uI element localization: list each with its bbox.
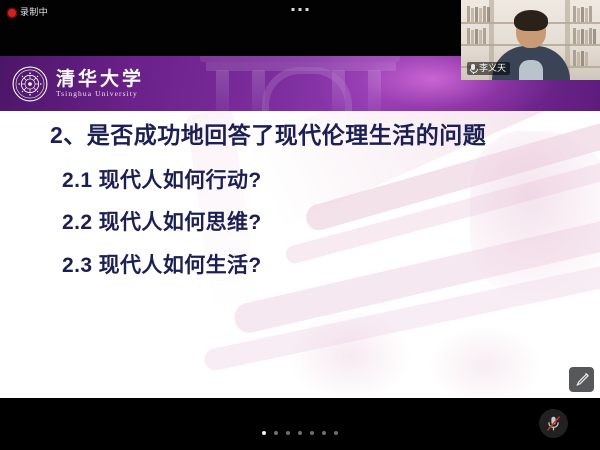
participant-video-tile[interactable]: 李义天 — [461, 0, 600, 80]
participant-name-chip: 李义天 — [467, 62, 510, 75]
slide-bullet-3: 2.3 现代人如何生活? — [62, 254, 262, 277]
slide-bullet-1: 2.1 现代人如何行动? — [62, 169, 262, 192]
screen-share-viewer: 录制中 — [0, 0, 600, 450]
pagination-dot[interactable] — [274, 431, 278, 435]
pagination-dot[interactable] — [298, 431, 302, 435]
tsinghua-seal-icon — [12, 66, 48, 102]
pagination-dot[interactable] — [322, 431, 326, 435]
university-logo: 清华大学 Tsinghua University — [12, 66, 144, 102]
pagination-dot[interactable] — [262, 431, 266, 435]
mute-toggle-button[interactable] — [539, 409, 568, 438]
recording-indicator: 录制中 — [8, 8, 48, 17]
participant-shirt — [519, 60, 543, 80]
university-name: 清华大学 Tsinghua University — [56, 70, 144, 98]
slide-title: 2、是否成功地回答了现代伦理生活的问题 — [50, 123, 486, 148]
slide-content: 2、是否成功地回答了现代伦理生活的问题 2.1 现代人如何行动? 2.2 现代人… — [0, 111, 600, 398]
microphone-muted-icon — [545, 415, 562, 432]
university-name-cn: 清华大学 — [56, 70, 144, 89]
annotate-pen-icon — [574, 372, 589, 387]
pagination-dot[interactable] — [286, 431, 290, 435]
slide-bullet-2: 2.2 现代人如何思维? — [62, 211, 262, 234]
bottom-bar — [0, 398, 600, 450]
university-name-en: Tsinghua University — [56, 90, 144, 98]
pagination-dot[interactable] — [310, 431, 314, 435]
pagination-dots[interactable] — [262, 431, 338, 435]
shared-slide[interactable]: 清华大学 Tsinghua University 2、是否成功地回答了现代伦理生… — [0, 56, 600, 398]
ellipsis-icon[interactable] — [292, 8, 309, 11]
participant-hair — [514, 10, 548, 31]
recording-dot-icon — [8, 9, 16, 17]
microphone-icon — [469, 64, 477, 74]
gate-watermark-icon — [200, 56, 400, 111]
recording-label: 录制中 — [20, 8, 48, 17]
participant-name: 李义天 — [479, 64, 506, 73]
pagination-dot[interactable] — [334, 431, 338, 435]
annotate-button[interactable] — [569, 367, 594, 392]
